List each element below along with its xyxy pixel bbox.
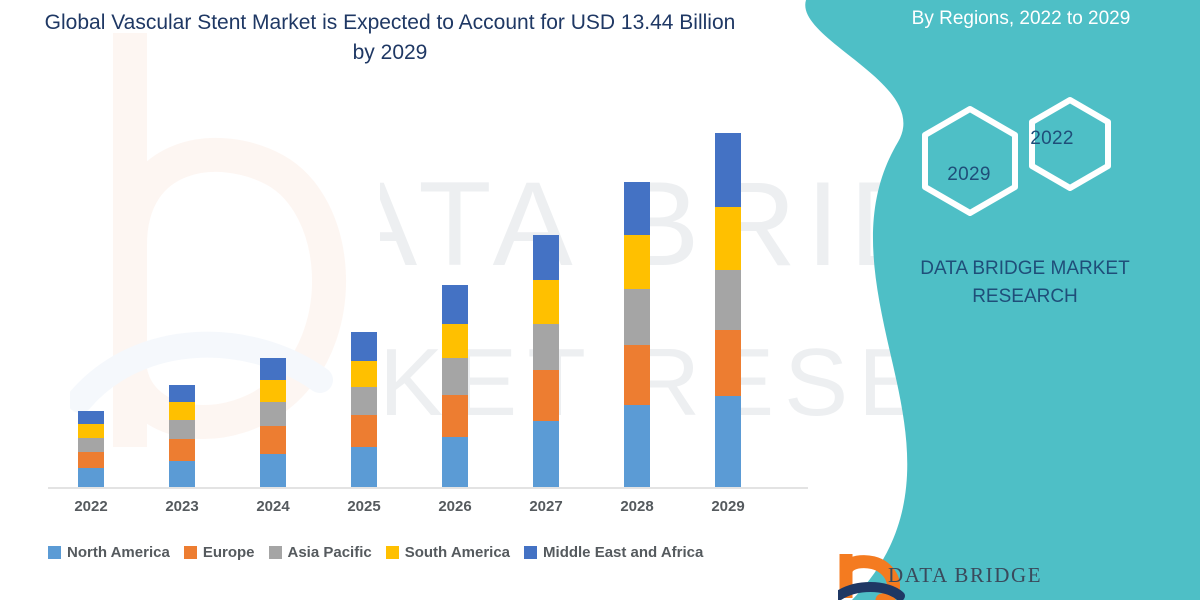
- x-label-2028: 2028: [607, 498, 667, 515]
- legend-swatch-icon: [184, 546, 197, 559]
- hexagon-2029-shape: [925, 109, 1015, 213]
- segment-south-america-2028[interactable]: [624, 235, 650, 289]
- legend-item-north-america[interactable]: North America: [48, 544, 170, 561]
- bar-2025[interactable]: [351, 332, 377, 487]
- segment-north-america-2024[interactable]: [260, 454, 286, 487]
- segment-europe-2028[interactable]: [624, 345, 650, 405]
- segment-south-america-2026[interactable]: [442, 324, 468, 358]
- legend-swatch-icon: [48, 546, 61, 559]
- segment-south-america-2029[interactable]: [715, 207, 741, 270]
- segment-asia-pacific-2025[interactable]: [351, 387, 377, 415]
- logo-text: DATA BRIDGE: [888, 563, 1042, 588]
- segment-europe-2022[interactable]: [78, 452, 104, 468]
- segment-south-america-2027[interactable]: [533, 280, 559, 324]
- segment-north-america-2026[interactable]: [442, 437, 468, 487]
- segment-asia-pacific-2026[interactable]: [442, 358, 468, 395]
- segment-europe-2025[interactable]: [351, 415, 377, 447]
- x-axis-line: [48, 487, 808, 489]
- segment-middle-east-and-africa-2026[interactable]: [442, 285, 468, 324]
- segment-north-america-2025[interactable]: [351, 447, 377, 487]
- brand-line-2: RESEARCH: [860, 283, 1190, 311]
- bar-2023[interactable]: [169, 385, 195, 487]
- legend-swatch-icon: [386, 546, 399, 559]
- bar-2028[interactable]: [624, 182, 650, 487]
- x-label-2026: 2026: [425, 498, 485, 515]
- bar-2027[interactable]: [533, 235, 559, 487]
- brand-name: DATA BRIDGE MARKET RESEARCH: [860, 255, 1190, 310]
- hexagon-group: [830, 75, 1170, 245]
- segment-south-america-2024[interactable]: [260, 380, 286, 402]
- segment-asia-pacific-2029[interactable]: [715, 270, 741, 330]
- segment-north-america-2023[interactable]: [169, 461, 195, 487]
- segment-europe-2026[interactable]: [442, 395, 468, 437]
- legend-swatch-icon: [269, 546, 282, 559]
- segment-south-america-2022[interactable]: [78, 424, 104, 438]
- segment-europe-2024[interactable]: [260, 426, 286, 454]
- segment-middle-east-and-africa-2027[interactable]: [533, 235, 559, 280]
- segment-middle-east-and-africa-2025[interactable]: [351, 332, 377, 361]
- segment-asia-pacific-2022[interactable]: [78, 438, 104, 452]
- segment-south-america-2023[interactable]: [169, 402, 195, 420]
- segment-north-america-2022[interactable]: [78, 468, 104, 487]
- legend-label: South America: [405, 544, 510, 561]
- x-label-2022: 2022: [61, 498, 121, 515]
- segment-middle-east-and-africa-2023[interactable]: [169, 385, 195, 402]
- segment-europe-2023[interactable]: [169, 439, 195, 461]
- x-label-2027: 2027: [516, 498, 576, 515]
- stacked-bar-chart: 20222023202420252026202720282029: [0, 0, 820, 600]
- legend-item-south-america[interactable]: South America: [386, 544, 510, 561]
- brand-line-1: DATA BRIDGE MARKET: [860, 255, 1190, 283]
- segment-north-america-2029[interactable]: [715, 396, 741, 487]
- bar-2026[interactable]: [442, 285, 468, 487]
- segment-asia-pacific-2023[interactable]: [169, 420, 195, 439]
- x-label-2025: 2025: [334, 498, 394, 515]
- hexagon-label-2029: 2029: [928, 164, 1010, 186]
- legend-label: Middle East and Africa: [543, 544, 703, 561]
- legend-label: Europe: [203, 544, 255, 561]
- bar-2022[interactable]: [78, 411, 104, 487]
- segment-south-america-2025[interactable]: [351, 361, 377, 387]
- segment-asia-pacific-2027[interactable]: [533, 324, 559, 370]
- panel-title: By Regions, 2022 to 2029: [856, 8, 1186, 30]
- segment-asia-pacific-2028[interactable]: [624, 289, 650, 345]
- segment-middle-east-and-africa-2029[interactable]: [715, 133, 741, 207]
- legend-label: Asia Pacific: [288, 544, 372, 561]
- x-label-2023: 2023: [152, 498, 212, 515]
- legend-item-europe[interactable]: Europe: [184, 544, 255, 561]
- legend-item-asia-pacific[interactable]: Asia Pacific: [269, 544, 372, 561]
- legend-item-middle-east-and-africa[interactable]: Middle East and Africa: [524, 544, 703, 561]
- segment-middle-east-and-africa-2022[interactable]: [78, 411, 104, 424]
- hexagon-label-2022: 2022: [1015, 128, 1089, 150]
- x-label-2029: 2029: [698, 498, 758, 515]
- segment-north-america-2027[interactable]: [533, 421, 559, 487]
- bar-2024[interactable]: [260, 358, 286, 487]
- segment-europe-2029[interactable]: [715, 330, 741, 396]
- legend-label: North America: [67, 544, 170, 561]
- segment-middle-east-and-africa-2024[interactable]: [260, 358, 286, 380]
- segment-north-america-2028[interactable]: [624, 405, 650, 487]
- x-label-2024: 2024: [243, 498, 303, 515]
- legend-swatch-icon: [524, 546, 537, 559]
- segment-asia-pacific-2024[interactable]: [260, 402, 286, 426]
- segment-middle-east-and-africa-2028[interactable]: [624, 182, 650, 235]
- bar-2029[interactable]: [715, 133, 741, 487]
- segment-europe-2027[interactable]: [533, 370, 559, 421]
- chart-legend: North AmericaEuropeAsia PacificSouth Ame…: [48, 540, 703, 564]
